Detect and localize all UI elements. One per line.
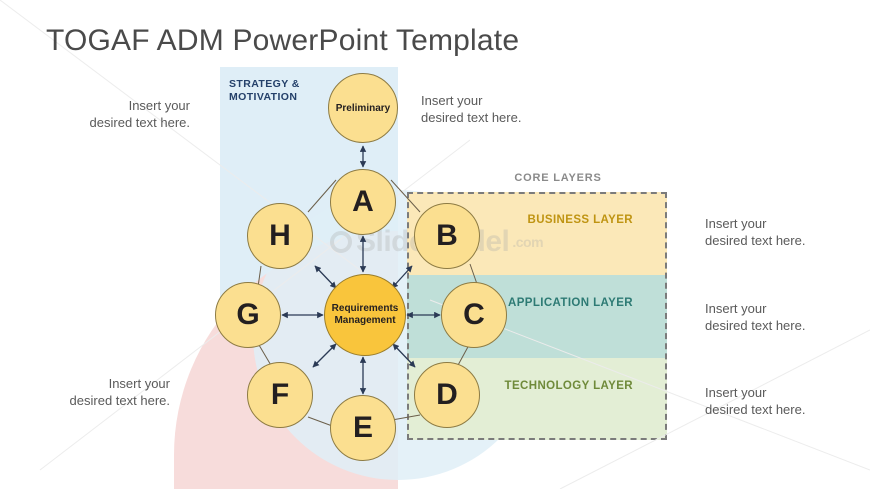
- node-e[interactable]: E: [330, 395, 396, 461]
- placeholder-right-technology[interactable]: Insert your desired text here.: [705, 384, 865, 418]
- node-requirements-management[interactable]: Requirements Management: [324, 274, 406, 356]
- node-c[interactable]: C: [441, 282, 507, 348]
- slide-canvas: TOGAF ADM PowerPoint Template STRATEGY &…: [0, 0, 870, 489]
- node-preliminary[interactable]: Preliminary: [328, 73, 398, 143]
- node-b[interactable]: B: [414, 203, 480, 269]
- placeholder-right-application[interactable]: Insert your desired text here.: [705, 300, 865, 334]
- node-f[interactable]: F: [247, 362, 313, 428]
- placeholder-left-top[interactable]: Insert your desired text here.: [40, 97, 190, 131]
- node-h[interactable]: H: [247, 203, 313, 269]
- node-g[interactable]: G: [215, 282, 281, 348]
- placeholder-left-bottom[interactable]: Insert your desired text here.: [20, 375, 170, 409]
- node-a[interactable]: A: [330, 169, 396, 235]
- node-d[interactable]: D: [414, 362, 480, 428]
- placeholder-right-business[interactable]: Insert your desired text here.: [705, 215, 865, 249]
- placeholder-right-top[interactable]: Insert your desired text here.: [421, 92, 591, 126]
